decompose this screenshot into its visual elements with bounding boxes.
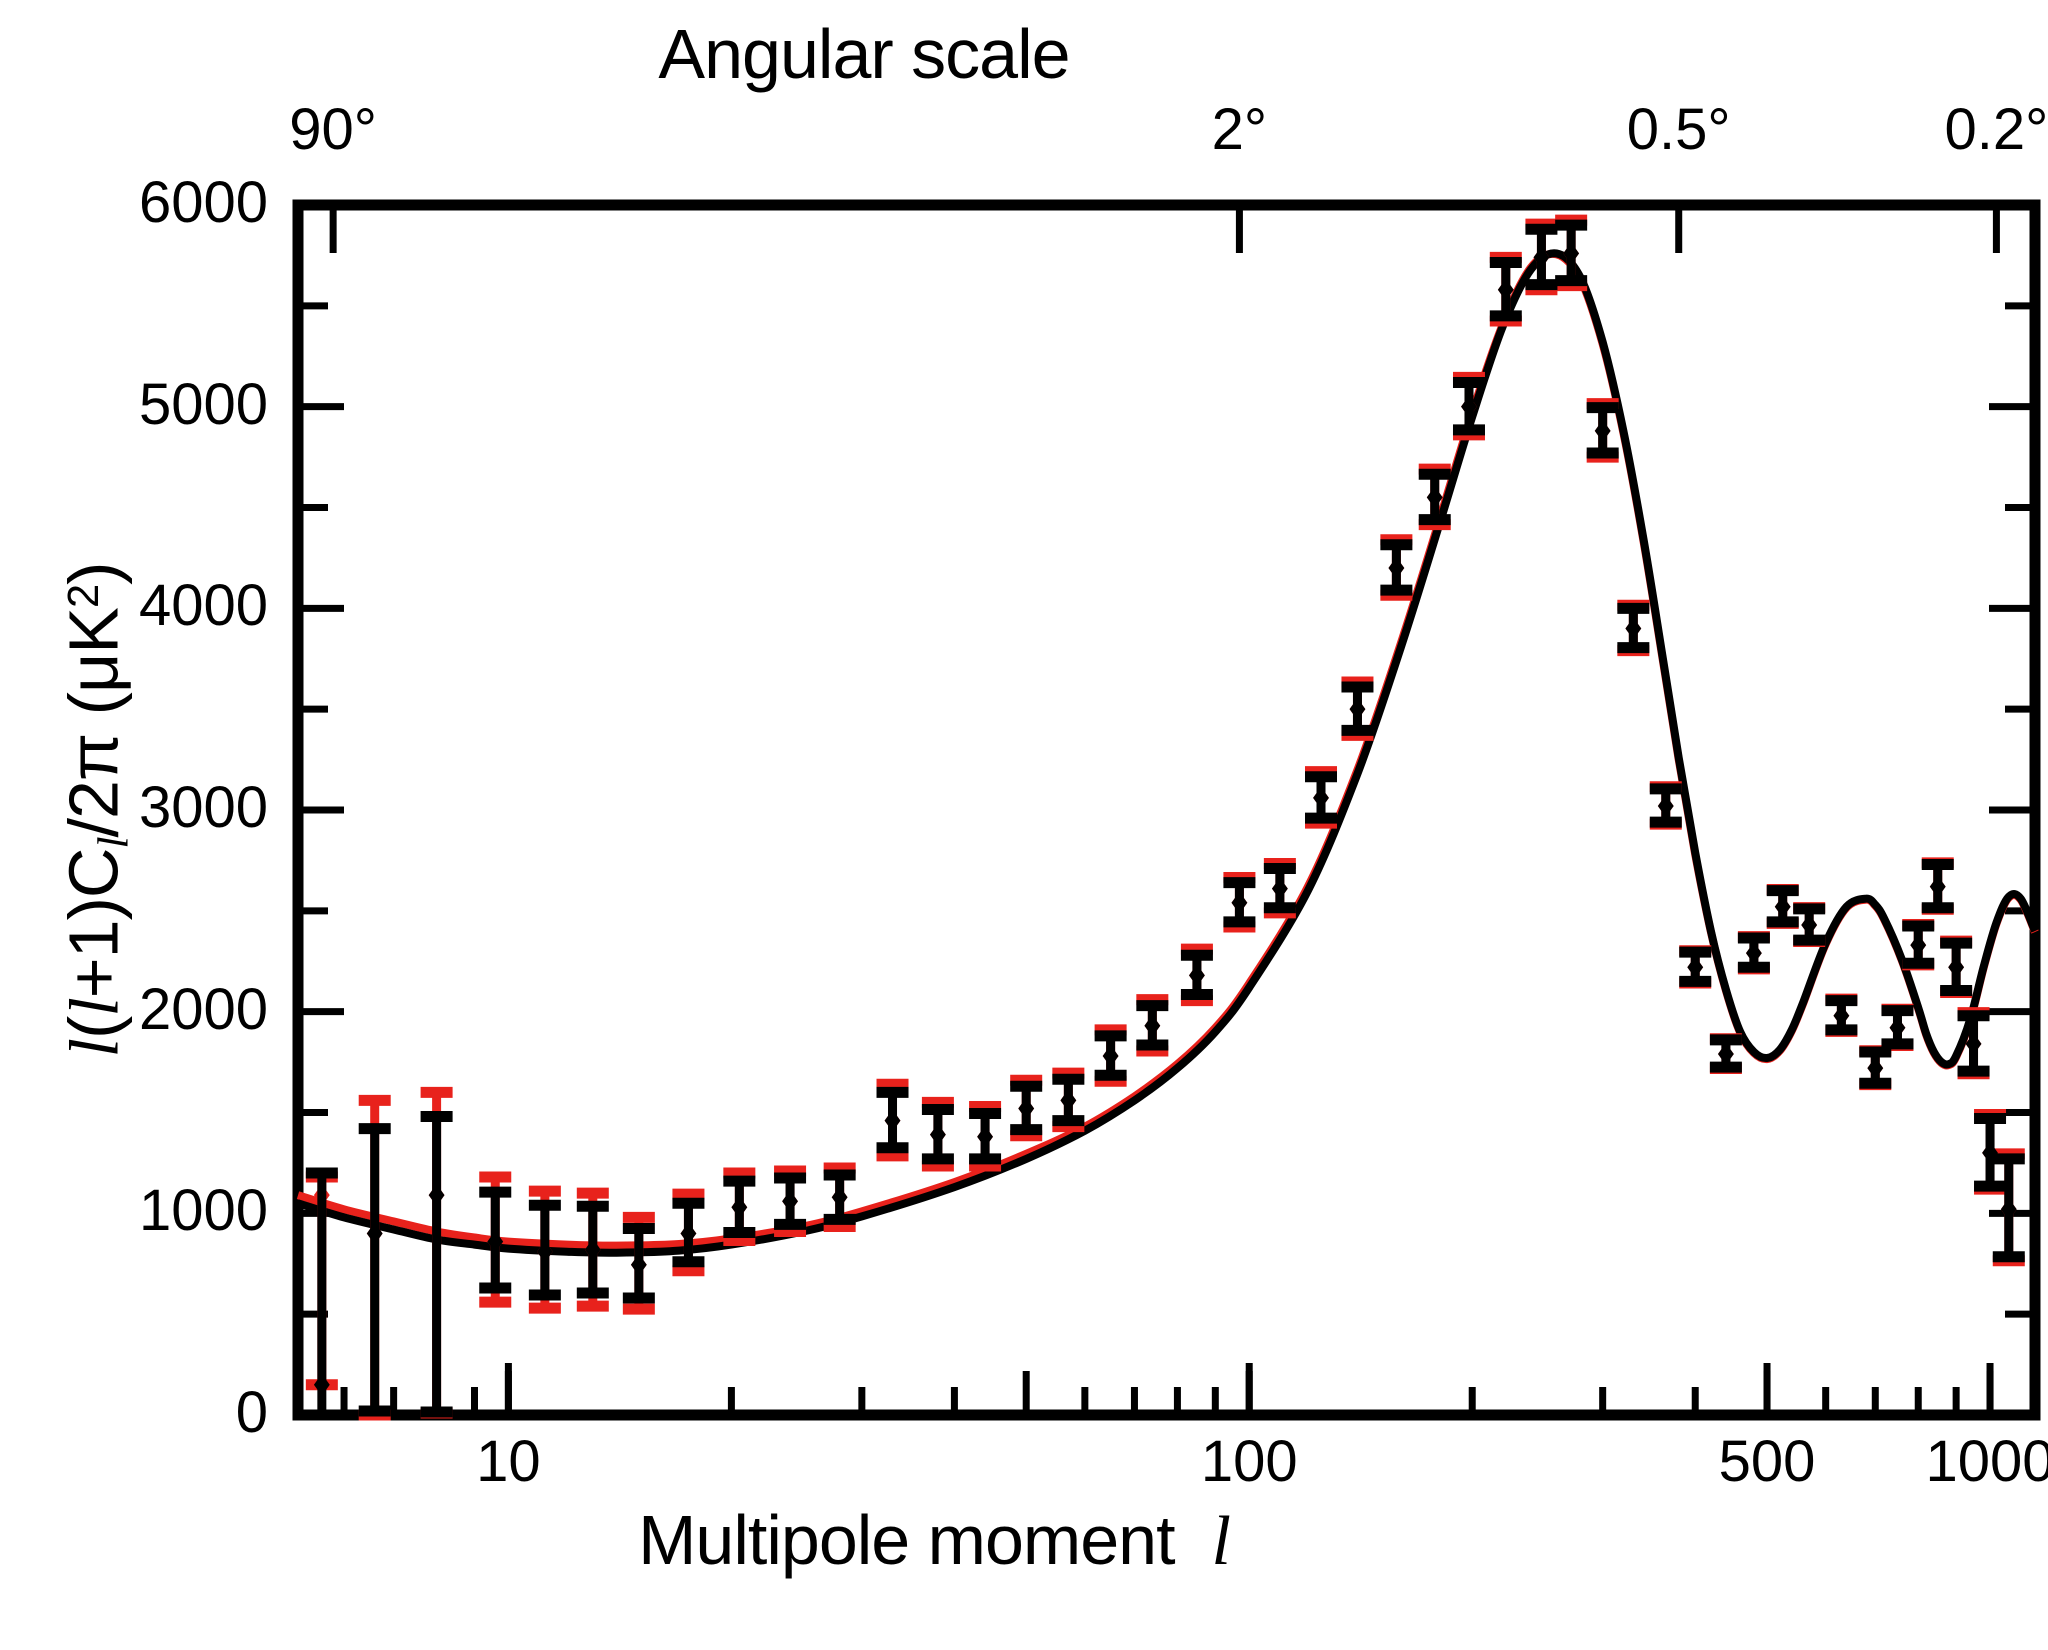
data-points-black [306, 225, 2025, 1415]
axes-frame [298, 205, 2035, 1415]
axis-ticks [298, 205, 2035, 1415]
model-curve-black [298, 253, 2035, 1253]
model-curve-red [298, 254, 2035, 1246]
cmb-power-spectrum-figure: Angular scale 90°2°0.5°0.2° 010002000300… [0, 0, 2048, 1650]
data-points-red [306, 220, 2025, 1415]
plot-canvas [0, 0, 2048, 1650]
